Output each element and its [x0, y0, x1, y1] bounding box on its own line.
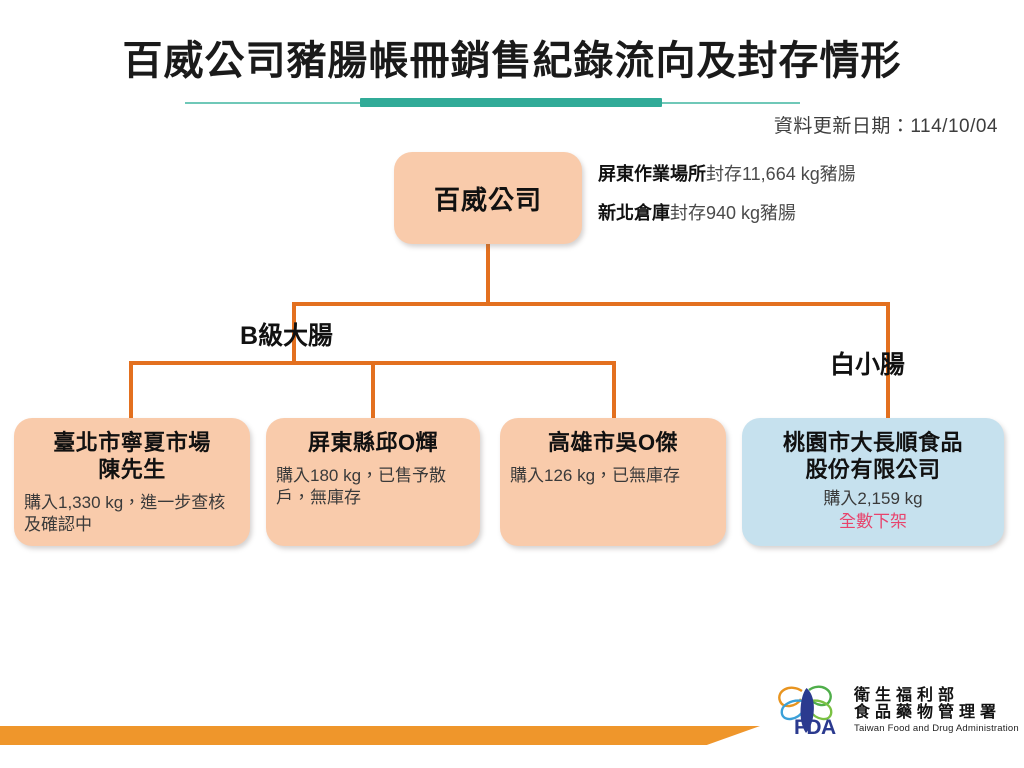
leaf-node-pingtung[interactable]: 屏東縣邱O輝 購入180 kg，已售予散戶，無庫存 [266, 418, 480, 546]
leaf-node-kaohsiung-title: 高雄市吳O傑 [510, 430, 716, 457]
leaf-node-row: 臺北市寧夏市場 陳先生 購入1,330 kg，進一步查核及確認中 屏東縣邱O輝 … [0, 418, 1024, 548]
connector-drop-leaf-3 [612, 361, 616, 420]
leaf-node-taipei[interactable]: 臺北市寧夏市場 陳先生 購入1,330 kg，進一步查核及確認中 [14, 418, 250, 546]
fda-agency-line2: 食品藥物管理署 [854, 705, 1019, 722]
leaf-node-kaohsiung-desc: 購入126 kg，已無庫存 [510, 465, 716, 487]
leaf-node-kaohsiung[interactable]: 高雄市吳O傑 購入126 kg，已無庫存 [500, 418, 726, 546]
branch-label-white-intestine: 白小腸 [830, 345, 905, 381]
page-title: 百威公司豬腸帳冊銷售紀錄流向及封存情形 [0, 28, 1024, 86]
leaf-node-taipei-title: 臺北市寧夏市場 陳先生 [24, 430, 240, 484]
fda-agency-text: 衛生福利部 食品藥物管理署 Taiwan Food and Drug Admin… [854, 688, 1019, 734]
update-date-label: 資料更新日期：114/10/04 [774, 111, 998, 138]
leaf-node-taipei-title-line1: 臺北市寧夏市場 [24, 430, 240, 457]
root-note-pingtung: 屏東作業場所封存11,664 kg豬腸 [598, 165, 1008, 183]
leaf-node-taoyuan-desc: 購入2,159 kg [752, 488, 994, 510]
leaf-node-kaohsiung-title-line1: 高雄市吳O傑 [510, 430, 716, 457]
leaf-node-pingtung-title-line1: 屏東縣邱O輝 [276, 430, 470, 457]
connector-root-stem [486, 243, 490, 304]
connector-drop-leaf-2 [371, 361, 375, 420]
fda-agency-en: Taiwan Food and Drug Administration [854, 724, 1019, 734]
slide-root: 百威公司豬腸帳冊銷售紀錄流向及封存情形 資料更新日期：114/10/04 B級大… [0, 0, 1024, 768]
leaf-node-taipei-title-line2: 陳先生 [24, 457, 240, 484]
branch-label-b-grade: B級大腸 [240, 316, 333, 352]
fda-wordmark: FDA [794, 716, 836, 740]
root-note-xinbei-site: 新北倉庫 [598, 203, 670, 223]
leaf-node-taipei-desc: 購入1,330 kg，進一步查核及確認中 [24, 492, 240, 536]
leaf-node-taoyuan-title-line1: 桃園市大長順食品 [752, 430, 994, 457]
fda-agency-line1: 衛生福利部 [854, 688, 1019, 705]
fda-logo: FDA 衛生福利部 食品藥物管理署 Taiwan Food and Drug A… [772, 678, 1016, 744]
leaf-node-taoyuan[interactable]: 桃園市大長順食品 股份有限公司 購入2,159 kg 全數下架 [742, 418, 1004, 546]
root-note-xinbei: 新北倉庫封存940 kg豬腸 [598, 204, 1008, 222]
connector-top-split-bar [292, 302, 890, 306]
root-note-pingtung-site: 屏東作業場所 [598, 164, 706, 184]
root-note-xinbei-amount: 封存940 kg豬腸 [670, 203, 796, 223]
root-node-title: 百威公司 [434, 180, 542, 217]
leaf-node-taoyuan-title: 桃園市大長順食品 股份有限公司 [752, 430, 994, 484]
fda-butterfly-icon: FDA [772, 681, 848, 741]
leaf-node-taoyuan-title-line2: 股份有限公司 [752, 457, 994, 484]
root-note-pingtung-amount: 封存11,664 kg豬腸 [706, 164, 856, 184]
leaf-node-pingtung-desc: 購入180 kg，已售予散戶，無庫存 [276, 465, 470, 509]
title-divider-thick [360, 98, 662, 107]
leaf-node-pingtung-title: 屏東縣邱O輝 [276, 430, 470, 457]
footer-accent-bar [0, 726, 760, 745]
leaf-node-taoyuan-alert: 全數下架 [752, 511, 994, 533]
root-sealed-stock-notes: 屏東作業場所封存11,664 kg豬腸 新北倉庫封存940 kg豬腸 [598, 165, 1008, 243]
connector-drop-leaf-1 [129, 361, 133, 420]
root-node-box[interactable]: 百威公司 [394, 152, 582, 244]
